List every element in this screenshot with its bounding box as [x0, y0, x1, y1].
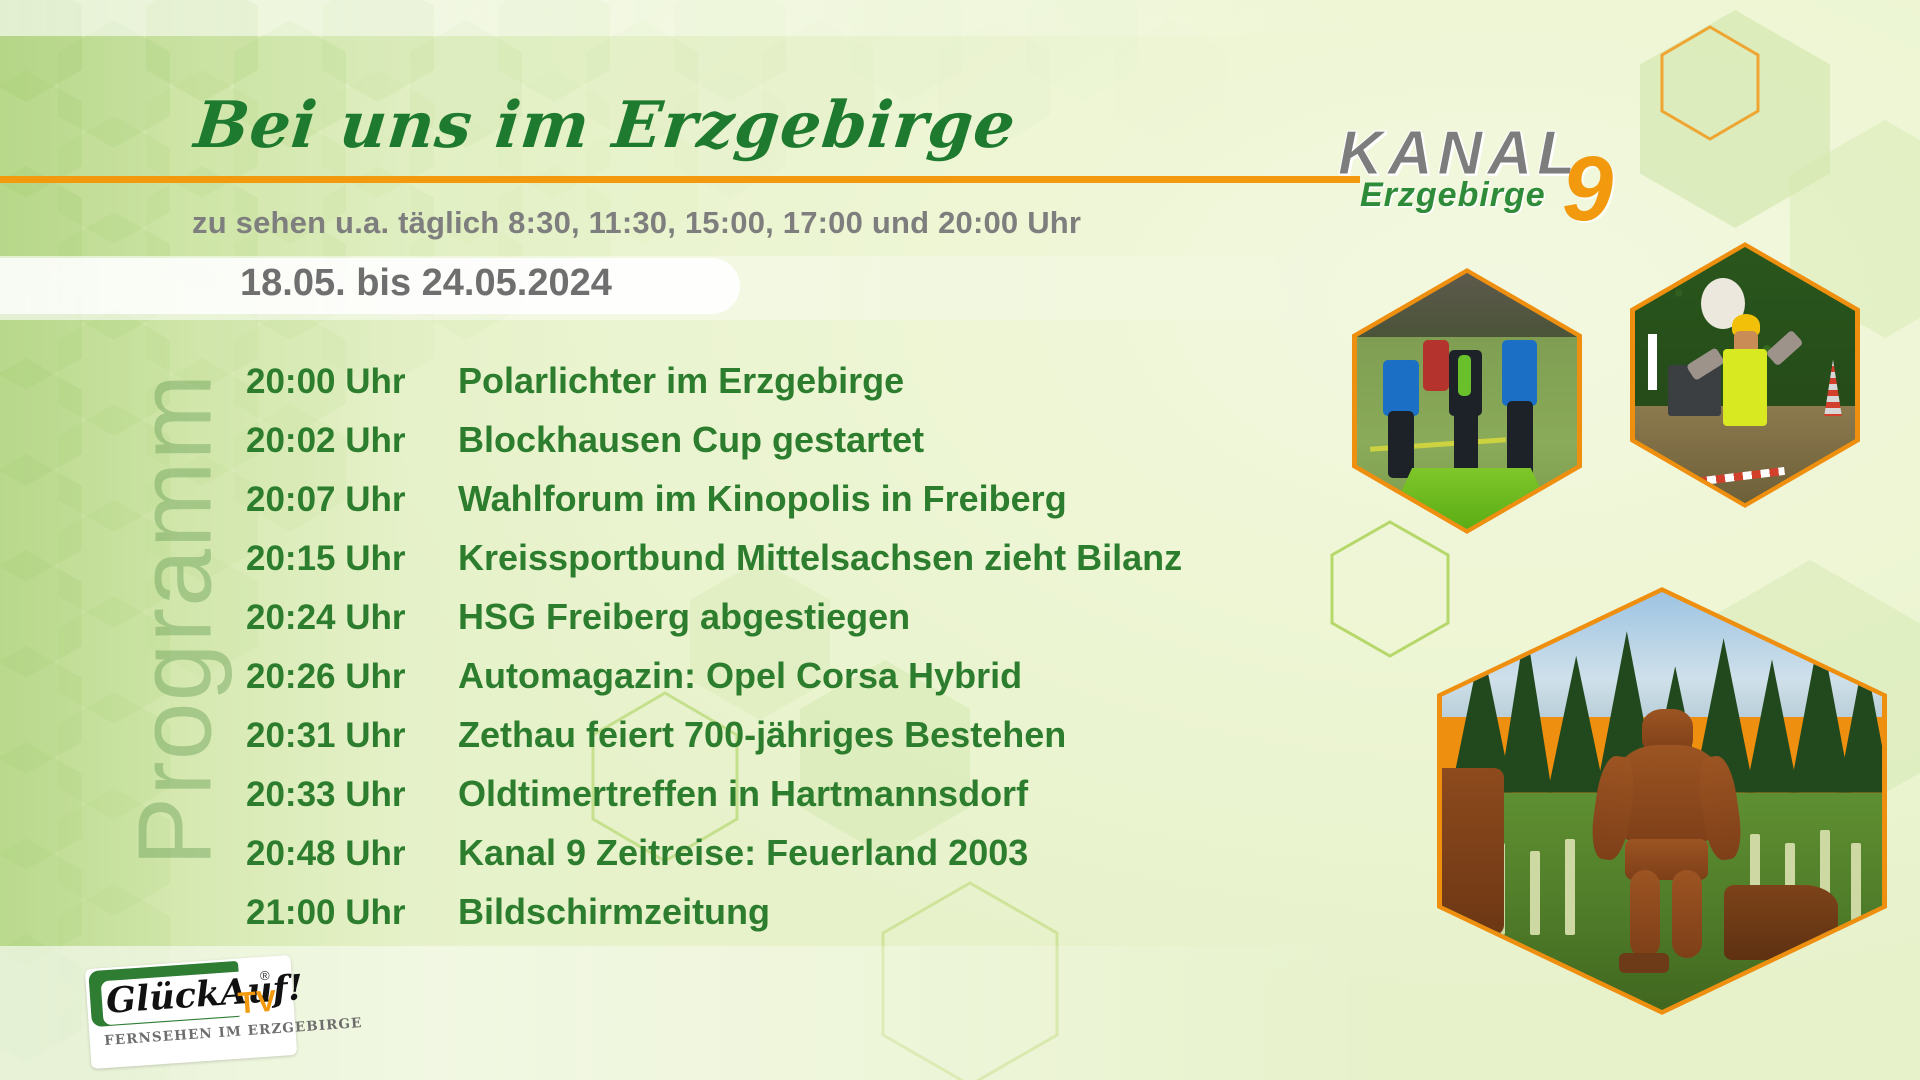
- program-time: 20:48 Uhr: [246, 834, 458, 874]
- list-item[interactable]: 20:26 Uhr Automagazin: Opel Corsa Hybrid: [246, 655, 1182, 714]
- program-title: Bildschirmzeitung: [458, 891, 770, 933]
- program-time: 20:15 Uhr: [246, 539, 458, 579]
- program-list: 20:00 Uhr Polarlichter im Erzgebirge 20:…: [246, 360, 1182, 950]
- program-title: Zethau feiert 700-jähriges Bestehen: [458, 714, 1066, 756]
- list-item[interactable]: 20:00 Uhr Polarlichter im Erzgebirge: [246, 360, 1182, 419]
- program-time: 20:26 Uhr: [246, 657, 458, 697]
- channel-logo-number: 9: [1562, 148, 1613, 231]
- station-logo: GlückAuf! ® TV FERNSEHEN IM ERZGEBIRGE: [88, 962, 294, 1062]
- program-title: Automagazin: Opel Corsa Hybrid: [458, 655, 1022, 697]
- channel-logo: KANAL Erzgebirge 9: [1330, 118, 1610, 228]
- program-time: 20:00 Uhr: [246, 362, 458, 402]
- program-title: Blockhausen Cup gestartet: [458, 419, 924, 461]
- programm-vertical-label: Programm: [117, 260, 236, 980]
- program-title: HSG Freiberg abgestiegen: [458, 596, 910, 638]
- program-time: 20:33 Uhr: [246, 775, 458, 815]
- list-item[interactable]: 20:33 Uhr Oldtimertreffen in Hartmannsdo…: [246, 773, 1182, 832]
- program-schedule-screen: Bei uns im Erzgebirge zu sehen u.a. tägl…: [0, 0, 1920, 1080]
- date-range-label: 18.05. bis 24.05.2024: [240, 262, 612, 305]
- airtimes-text: zu sehen u.a. täglich 8:30, 11:30, 15:00…: [192, 205, 1081, 241]
- list-item[interactable]: 20:02 Uhr Blockhausen Cup gestartet: [246, 419, 1182, 478]
- program-title: Kanal 9 Zeitreise: Feuerland 2003: [458, 832, 1028, 874]
- program-time: 20:02 Uhr: [246, 421, 458, 461]
- light-band-top: [0, 0, 1920, 36]
- channel-logo-region: Erzgebirge: [1360, 176, 1546, 215]
- program-title: Oldtimertreffen in Hartmannsdorf: [458, 773, 1028, 815]
- list-item[interactable]: 20:24 Uhr HSG Freiberg abgestiegen: [246, 596, 1182, 655]
- program-time: 21:00 Uhr: [246, 893, 458, 933]
- orange-divider-rule: [0, 176, 1360, 183]
- list-item[interactable]: 20:15 Uhr Kreissportbund Mittelsachsen z…: [246, 537, 1182, 596]
- station-logo-tv: TV: [237, 985, 278, 1022]
- program-title: Wahlforum im Kinopolis in Freiberg: [458, 478, 1067, 520]
- list-item[interactable]: 20:31 Uhr Zethau feiert 700-jähriges Bes…: [246, 714, 1182, 773]
- show-title: Bei uns im Erzgebirge: [191, 88, 1020, 163]
- program-time: 20:07 Uhr: [246, 480, 458, 520]
- list-item[interactable]: 21:00 Uhr Bildschirmzeitung: [246, 891, 1182, 950]
- list-item[interactable]: 20:48 Uhr Kanal 9 Zeitreise: Feuerland 2…: [246, 832, 1182, 891]
- photo-troll-sculpture: [1592, 709, 1742, 968]
- photo-secondary-sculpture: [1442, 768, 1504, 935]
- program-title: Kreissportbund Mittelsachsen zieht Bilan…: [458, 537, 1182, 579]
- program-title: Polarlichter im Erzgebirge: [458, 360, 904, 402]
- program-time: 20:31 Uhr: [246, 716, 458, 756]
- list-item[interactable]: 20:07 Uhr Wahlforum im Kinopolis in Frei…: [246, 478, 1182, 537]
- photo-safety-vest: [1723, 349, 1767, 426]
- registered-trademark-icon: ®: [259, 968, 270, 984]
- program-time: 20:24 Uhr: [246, 598, 458, 638]
